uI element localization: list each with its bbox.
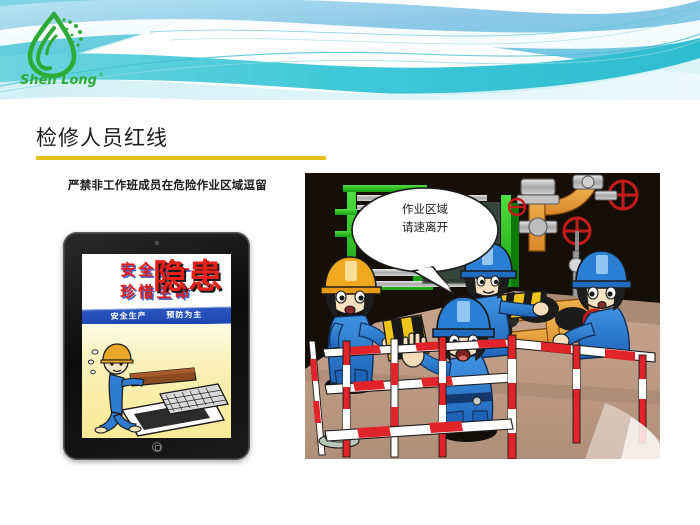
logo-wordmark: Shen Long	[20, 73, 97, 88]
poster-illustration-area	[82, 324, 231, 438]
work-area-illustration: 作业区域 请速离开	[305, 173, 660, 459]
poster-cartoon-art	[82, 324, 231, 438]
logo-registered-mark: ®	[98, 72, 104, 79]
poster-big-word: 隐患	[153, 260, 223, 294]
safety-poster: 安全第一 珍惜生命 安全生产 预防为主	[82, 254, 231, 438]
slide-root: Shen Long ® 检修人员红线 严禁非工作班成员在危险作业区域逗留 安全第…	[0, 0, 700, 525]
poster-band-left: 安全生产	[110, 311, 146, 321]
poster-band-right: 预防为主	[166, 310, 202, 320]
page-title: 检修人员红线	[36, 122, 168, 152]
title-underline-rule	[36, 156, 326, 160]
home-button[interactable]	[152, 442, 162, 452]
poster-band-text: 安全生产 预防为主	[82, 308, 231, 322]
shen-long-logo: Shen Long ®	[14, 8, 114, 88]
subtitle-text: 严禁非工作班成员在危险作业区域逗留	[68, 178, 293, 194]
tablet-device: 安全第一 珍惜生命 安全生产 预防为主	[63, 232, 250, 460]
tablet-screen: 安全第一 珍惜生命 安全生产 预防为主	[82, 254, 231, 438]
camera-icon	[155, 241, 159, 245]
